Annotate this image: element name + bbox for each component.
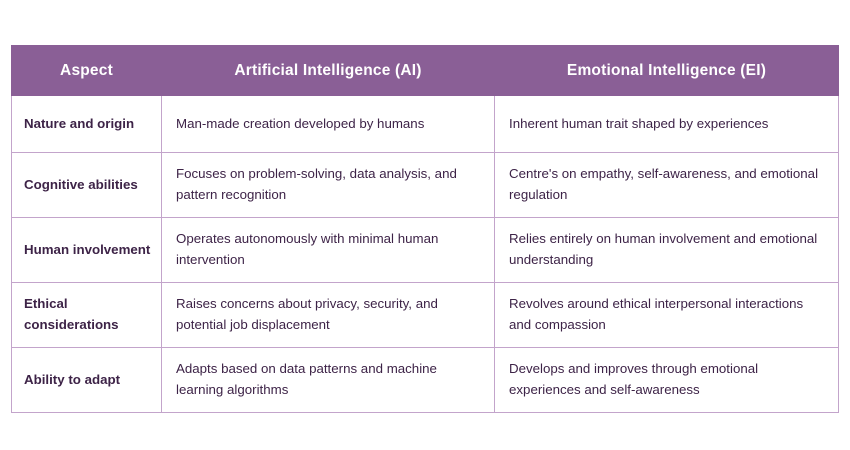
table-row: Ethical considerations Raises concerns a… [12, 283, 839, 348]
cell-aspect: Nature and origin [12, 96, 162, 153]
table-row: Human involvement Operates autonomously … [12, 218, 839, 283]
cell-aspect: Cognitive abilities [12, 153, 162, 218]
column-header-emotional-intelligence: Emotional Intelligence (EI) [495, 46, 839, 96]
cell-ai: Man-made creation developed by humans [162, 96, 495, 153]
table-body: Nature and origin Man-made creation deve… [12, 96, 839, 413]
cell-ai: Raises concerns about privacy, security,… [162, 283, 495, 348]
cell-ai: Adapts based on data patterns and machin… [162, 348, 495, 413]
cell-ei: Centre's on empathy, self-awareness, and… [495, 153, 839, 218]
comparison-table: Aspect Artificial Intelligence (AI) Emot… [11, 45, 839, 413]
column-header-aspect: Aspect [12, 46, 162, 96]
cell-ai: Focuses on problem-solving, data analysi… [162, 153, 495, 218]
page-canvas: Aspect Artificial Intelligence (AI) Emot… [0, 0, 850, 450]
cell-aspect: Human involvement [12, 218, 162, 283]
table-row: Ability to adapt Adapts based on data pa… [12, 348, 839, 413]
column-header-artificial-intelligence: Artificial Intelligence (AI) [162, 46, 495, 96]
cell-ai: Operates autonomously with minimal human… [162, 218, 495, 283]
cell-ei: Develops and improves through emotional … [495, 348, 839, 413]
cell-aspect: Ability to adapt [12, 348, 162, 413]
cell-ei: Revolves around ethical interpersonal in… [495, 283, 839, 348]
cell-ei: Inherent human trait shaped by experienc… [495, 96, 839, 153]
table-header: Aspect Artificial Intelligence (AI) Emot… [12, 46, 839, 96]
table-row: Cognitive abilities Focuses on problem-s… [12, 153, 839, 218]
cell-aspect: Ethical considerations [12, 283, 162, 348]
table-row: Nature and origin Man-made creation deve… [12, 96, 839, 153]
header-row: Aspect Artificial Intelligence (AI) Emot… [12, 46, 839, 96]
cell-ei: Relies entirely on human involvement and… [495, 218, 839, 283]
